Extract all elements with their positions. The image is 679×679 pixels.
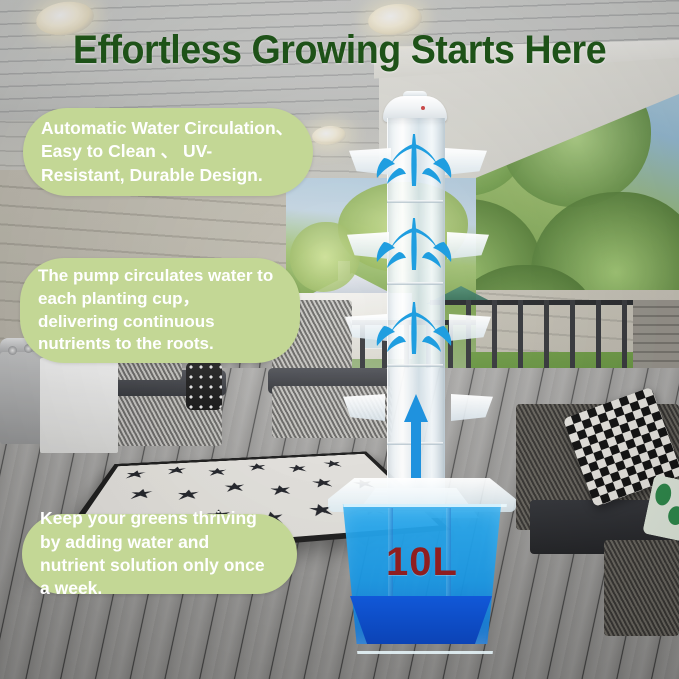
water-spray-graphic: [368, 124, 462, 198]
planting-cup: [451, 394, 493, 421]
water-spray-graphic: [368, 292, 462, 366]
page-title: Effortless Growing Starts Here: [20, 28, 658, 73]
water-spray-graphic: [368, 208, 462, 282]
callout-automatic-water-circulation: Automatic Water Circulation、Easy to Clea…: [23, 108, 313, 196]
side-table: [186, 362, 222, 410]
callout-weekly-maintenance: Keep your greens thriving by adding wate…: [22, 514, 297, 594]
hydroponic-tower: [333, 96, 503, 516]
water-reservoir-tank: 10L: [328, 478, 516, 656]
callout-3-text: Keep your greens thriving by adding wate…: [22, 507, 297, 600]
planting-cup: [343, 394, 385, 421]
capacity-label: 10L: [328, 540, 516, 585]
callout-pump-circulation: The pump circulates water to each planti…: [20, 258, 300, 363]
product-marketing-image: 10L Effortless Growing Starts Here Autom…: [0, 0, 679, 679]
wicker-sofa-base: [604, 540, 679, 636]
callout-2-text: The pump circulates water to each planti…: [20, 265, 300, 355]
water-flow-arrow-icon: [403, 392, 429, 480]
callout-1-text: Automatic Water Circulation、Easy to Clea…: [23, 117, 313, 187]
tower-indicator-dot: [421, 106, 425, 110]
grill-cabinet: [40, 358, 118, 453]
